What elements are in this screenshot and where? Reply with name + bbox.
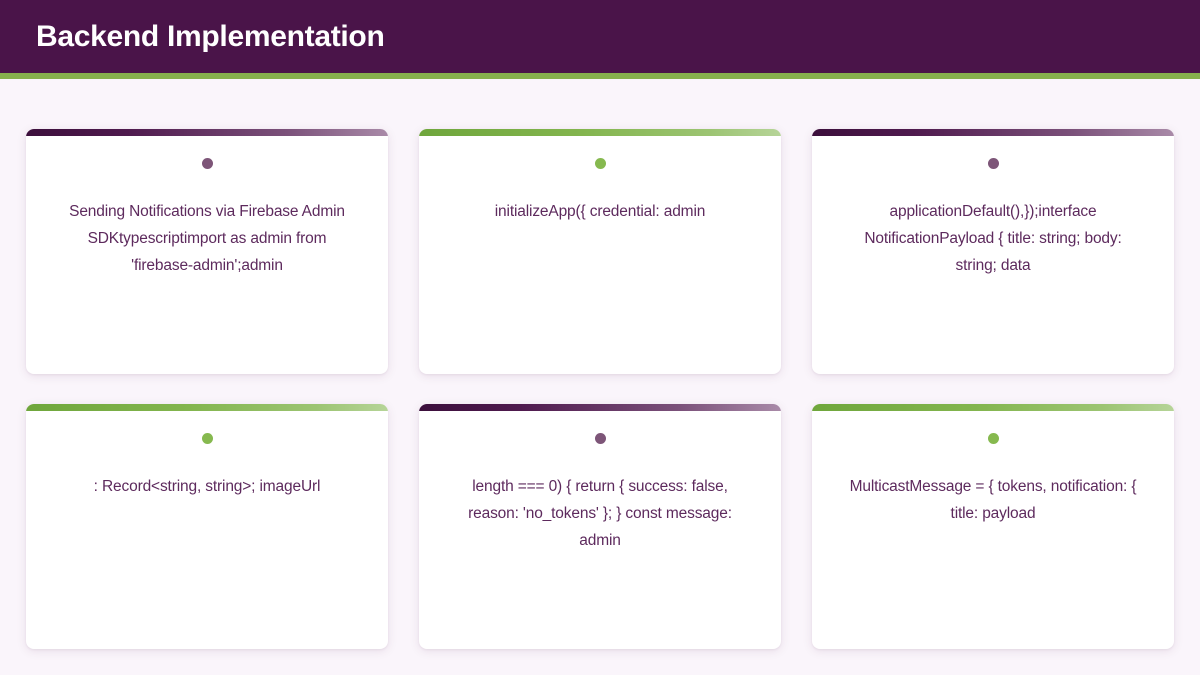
card-accent-bar [419,404,781,411]
slide-header: Backend Implementation [0,0,1200,73]
card-accent-bar [26,129,388,136]
slide-root: Backend Implementation Sending Notificat… [0,0,1200,675]
status-dot-green [988,433,999,444]
card-grid: Sending Notifications via Firebase Admin… [26,129,1174,649]
card-accent-bar [812,129,1174,136]
status-dot-purple [988,158,999,169]
content-card-2[interactable]: initializeApp({ credential: admin [419,129,781,374]
content-card-4[interactable]: : Record<string, string>; imageUrl [26,404,388,649]
card-text: MulticastMessage = { tokens, notificatio… [843,473,1143,527]
status-dot-green [595,158,606,169]
card-text: initializeApp({ credential: admin [450,198,750,225]
status-dot-purple [202,158,213,169]
card-accent-bar [26,404,388,411]
content-card-1[interactable]: Sending Notifications via Firebase Admin… [26,129,388,374]
content-card-6[interactable]: MulticastMessage = { tokens, notificatio… [812,404,1174,649]
status-dot-purple [595,433,606,444]
card-text: : Record<string, string>; imageUrl [57,473,357,500]
page-title: Backend Implementation [36,22,384,52]
card-text: length === 0) { return { success: false,… [450,473,750,554]
card-accent-bar [812,404,1174,411]
content-card-5[interactable]: length === 0) { return { success: false,… [419,404,781,649]
card-accent-bar [419,129,781,136]
card-text: applicationDefault(),});interface Notifi… [843,198,1143,279]
content-card-3[interactable]: applicationDefault(),});interface Notifi… [812,129,1174,374]
status-dot-green [202,433,213,444]
header-accent-bar [0,73,1200,79]
card-text: Sending Notifications via Firebase Admin… [57,198,357,279]
